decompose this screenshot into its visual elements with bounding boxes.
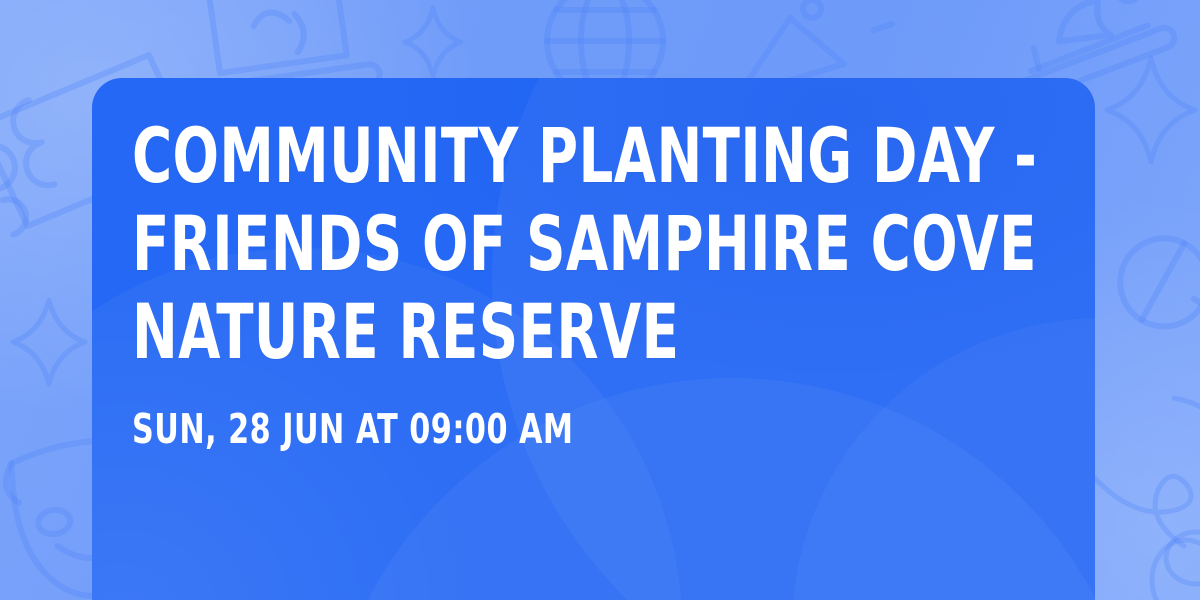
balloon-icon bbox=[1138, 540, 1200, 600]
sparkle-icon bbox=[1096, 50, 1200, 170]
microphone-icon bbox=[1112, 214, 1200, 414]
sparkle-icon bbox=[4, 292, 94, 392]
event-datetime: SUN, 28 JUN AT 09:00 AM bbox=[132, 406, 1039, 452]
event-banner: COMMUNITY PLANTING DAY - FRIENDS OF SAMP… bbox=[0, 0, 1200, 600]
sparkle-icon bbox=[398, 2, 468, 82]
event-title: COMMUNITY PLANTING DAY - FRIENDS OF SAMP… bbox=[132, 112, 1039, 376]
event-card-content: COMMUNITY PLANTING DAY - FRIENDS OF SAMP… bbox=[92, 78, 1095, 600]
streamer-swirl-icon bbox=[1078, 404, 1200, 594]
event-card: COMMUNITY PLANTING DAY - FRIENDS OF SAMP… bbox=[92, 78, 1095, 600]
